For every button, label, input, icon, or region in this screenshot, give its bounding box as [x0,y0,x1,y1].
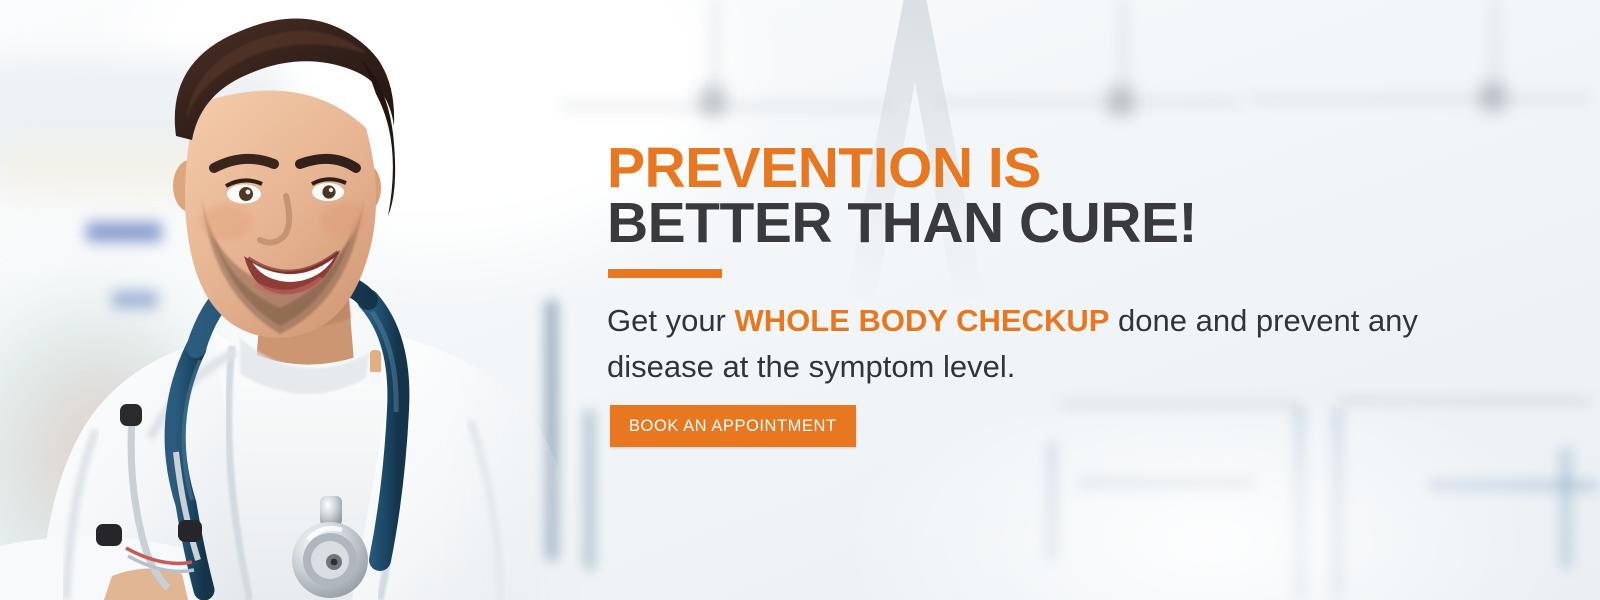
banner-copy: PREVENTION IS BETTER THAN CURE! Get your… [607,0,1527,600]
subtitle-before: Get your [607,303,735,338]
headline: PREVENTION IS BETTER THAN CURE! [607,141,1197,251]
doctor-photo [0,0,600,600]
headline-line-1: PREVENTION IS [607,141,1197,196]
accent-divider [608,269,722,278]
headline-line-2: BETTER THAN CURE! [607,196,1197,251]
subtitle-emphasis: WHOLE BODY CHECKUP [735,303,1110,338]
subtitle: Get your WHOLE BODY CHECKUP done and pre… [607,298,1507,390]
book-appointment-button[interactable]: BOOK AN APPOINTMENT [610,405,856,447]
hero-banner: PREVENTION IS BETTER THAN CURE! Get your… [0,0,1600,600]
